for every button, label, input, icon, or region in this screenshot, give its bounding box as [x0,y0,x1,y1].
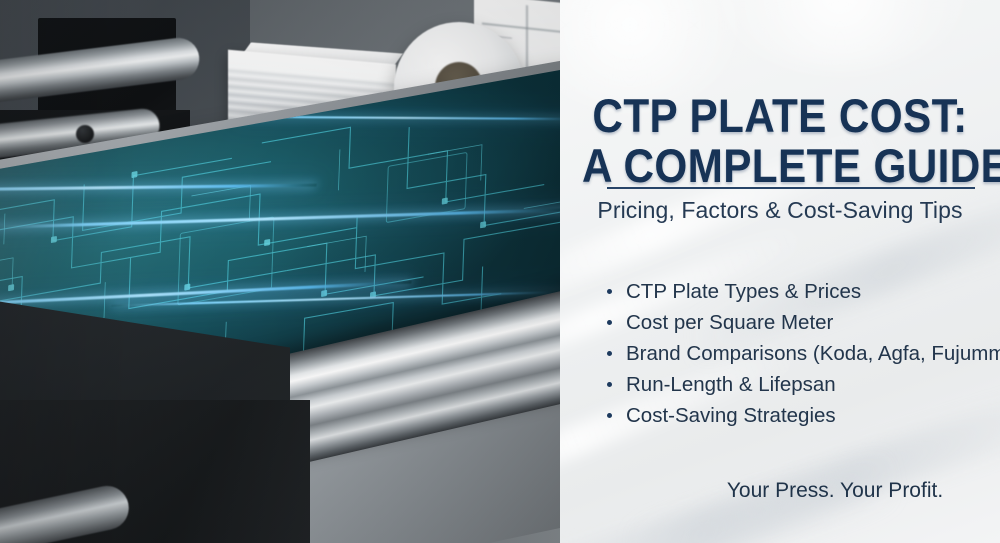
bullet-dot-icon [607,351,612,356]
list-item-label: Run-Length & Lifepsan [626,373,836,396]
page-title-line-1: CTP PLATE COST: [592,89,967,142]
list-item-label: Cost-Saving Strategies [626,404,836,427]
list-item: Brand Comparisons (Koda, Agfa, Fujumm) [604,338,1000,369]
list-item-label: Brand Comparisons (Koda, Agfa, Fujumm) [626,342,1000,365]
bullet-dot-icon [607,413,612,418]
list-item: Run-Length & Lifepsan [604,369,1000,400]
bullet-dot-icon [607,289,612,294]
list-item-label: CTP Plate Types & Prices [626,280,861,303]
page-title: CTP PLATE COST: A COMPLETE GUIDE [582,91,978,191]
info-panel: CTP PLATE COST: A COMPLETE GUIDE Pricing… [560,0,1000,543]
list-item: CTP Plate Types & Prices [604,276,1000,307]
tagline: Your Press. Your Profit. [690,479,980,503]
roller-knob-dark [76,125,94,143]
page-title-line-2: A COMPLETE GUIDE [582,141,978,191]
list-item: Cost-Saving Strategies [604,400,1000,431]
bullet-dot-icon [607,320,612,325]
poster-canvas: CTP PLATE COST: A COMPLETE GUIDE Pricing… [0,0,1000,543]
list-item-label: Cost per Square Meter [626,311,833,334]
bullet-dot-icon [607,382,612,387]
list-item: Cost per Square Meter [604,307,1000,338]
title-divider [607,187,975,189]
topic-list: CTP Plate Types & Prices Cost per Square… [604,276,1000,431]
press-photo [0,0,560,543]
page-subtitle: Pricing, Factors & Cost-Saving Tips [560,197,1000,224]
